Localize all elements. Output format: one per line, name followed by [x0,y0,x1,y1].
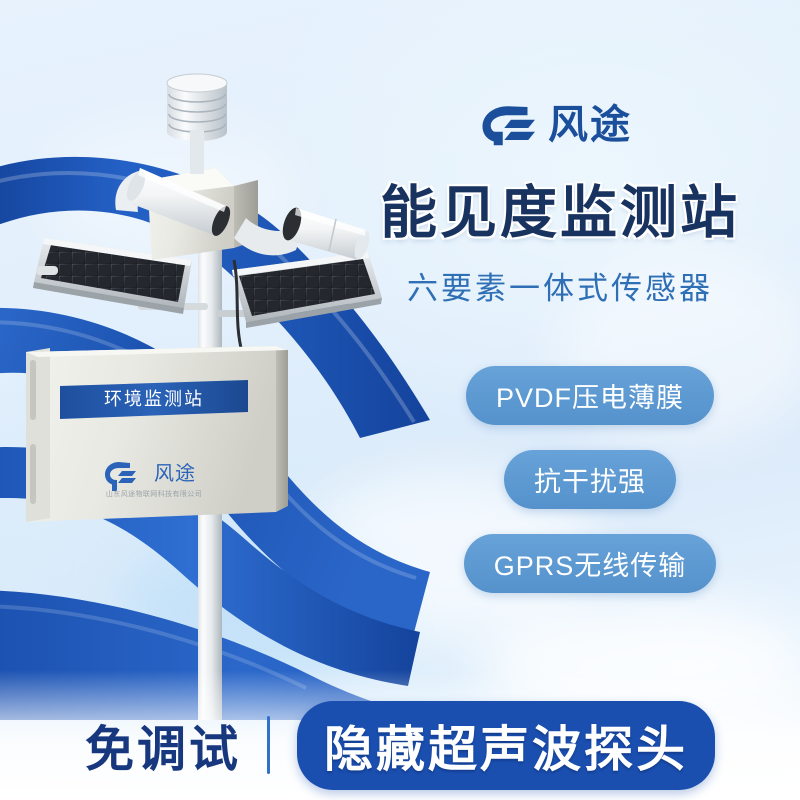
feature-pill[interactable]: 抗干扰强 [504,450,676,509]
page-subtitle: 六要素一体式传感器 [330,272,790,306]
enclosure-label-text: 环境监测站 [104,389,204,409]
bottom-banner: 免调试 隐藏超声波探头 [0,690,800,800]
control-box-icon: 环境监测站 风途 山东风途物联网科技有限公司 [26,346,288,522]
feature-pill[interactable]: PVDF压电薄膜 [466,366,714,425]
page-title: 能见度监测站 [330,183,790,243]
weather-station-device: 环境监测站 风途 山东风途物联网科技有限公司 [20,60,420,720]
enclosure-company-text: 山东风途物联网科技有限公司 [106,489,202,498]
radiation-shield-icon [167,74,227,174]
feature-pill-list: PVDF压电薄膜 抗干扰强 GPRS无线传输 [440,366,740,593]
brand-name: 风途 [548,105,632,145]
banner-left-text: 免调试 [85,710,267,781]
feature-pill[interactable]: GPRS无线传输 [464,534,717,593]
enclosure-brand-text: 风途 [154,462,196,485]
brand-logo-row: 风途 [478,103,632,147]
fengtu-cloud-g-logo-icon [478,103,538,147]
banner-highlight-pill[interactable]: 隐藏超声波探头 [297,701,715,790]
banner-divider [267,716,270,774]
product-poster: 环境监测站 风途 山东风途物联网科技有限公司 风途 能见度监测站 六要素一体式传… [0,0,800,800]
